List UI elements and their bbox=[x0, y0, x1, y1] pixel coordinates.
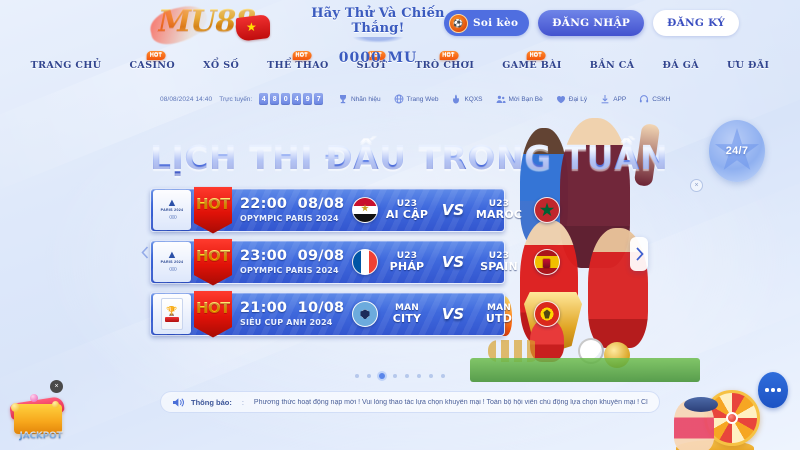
quick-link-5[interactable]: Đại Lý bbox=[556, 94, 587, 104]
match-schedule-list: ▲PARIS 2024○○○HOT22:00 08/08OPYMPIC PARI… bbox=[150, 188, 505, 344]
site-header: MU88 ★ Hãy Thử Và Chiến Thắng! 0000.MU ⚽… bbox=[0, 0, 800, 48]
hot-badge: HOT bbox=[527, 51, 546, 60]
soi-keo-label: Soi kèo bbox=[473, 17, 518, 29]
hot-ribbon: HOT bbox=[194, 291, 232, 338]
coin-icon bbox=[52, 401, 59, 408]
match-time: 22:00 bbox=[240, 196, 287, 212]
nav-item-label: CASINO bbox=[129, 60, 175, 71]
support-247-badge[interactable]: 24/7 bbox=[709, 120, 765, 182]
heart-shield-icon bbox=[556, 94, 566, 104]
hot-ribbon-label: HOT bbox=[196, 247, 230, 265]
hero-banner: LỊCH THI ĐẤU TRONG TUẦN ▲PARIS 2024○○○HO… bbox=[0, 110, 800, 385]
header-slogan: Hãy Thử Và Chiến Thắng! 0000.MU bbox=[288, 6, 468, 66]
match-row[interactable]: ▲PARIS 2024○○○HOT22:00 08/08OPYMPIC PARI… bbox=[150, 188, 505, 232]
carousel-prev-button[interactable] bbox=[138, 237, 152, 267]
online-count-digits: 480497 bbox=[259, 93, 323, 105]
trophy-icon bbox=[338, 94, 348, 104]
quick-link-7[interactable]: CSKH bbox=[639, 94, 670, 104]
nav-item-label: ƯU ĐÃI bbox=[727, 60, 769, 71]
nav-item-label: TRANG CHỦ bbox=[31, 60, 102, 71]
versus-label: VS bbox=[436, 253, 470, 271]
nav-item-10[interactable]: ƯU ĐÃI bbox=[713, 60, 783, 71]
headset-icon bbox=[639, 94, 649, 104]
quick-link-4[interactable]: Mời Bạn Bè bbox=[496, 94, 543, 104]
people-icon bbox=[496, 94, 506, 104]
france-flag-icon bbox=[352, 249, 378, 275]
quick-link-label: Mời Bạn Bè bbox=[509, 96, 543, 103]
match-date: 10/08 bbox=[298, 300, 345, 316]
status-bar: 08/08/2024 14:40 Trực tuyến: 480497 Nhãn… bbox=[0, 88, 800, 110]
three-dots-icon bbox=[765, 388, 769, 392]
carousel-dot[interactable] bbox=[367, 374, 371, 378]
quick-link-label: KQXS bbox=[464, 96, 482, 103]
match-row[interactable]: ▲PARIS 2024○○○HOT23:00 09/08OPYMPIC PARI… bbox=[150, 240, 505, 284]
away-team-line2: SPAIN bbox=[480, 260, 518, 273]
away-team-line2: MAROC bbox=[476, 208, 522, 221]
three-dots-icon bbox=[777, 388, 781, 392]
gift-box-icon bbox=[14, 404, 62, 434]
online-digit: 7 bbox=[314, 93, 323, 105]
carousel-dot[interactable] bbox=[441, 374, 445, 378]
match-schedule-info: 21:00 10/08SIÊU CUP ANH 2024 bbox=[240, 301, 352, 327]
soccer-ball-gold bbox=[604, 342, 630, 368]
hot-ribbon-label: HOT bbox=[196, 299, 230, 317]
match-league: OPYMPIC PARIS 2024 bbox=[240, 214, 339, 223]
soi-keo-button[interactable]: ⚽ Soi kèo bbox=[444, 10, 529, 36]
hot-badge: HOT bbox=[147, 51, 166, 60]
speaker-icon bbox=[172, 396, 185, 409]
home-team-line2: AI CẬP bbox=[386, 208, 428, 221]
nav-item-label: ĐÁ GÀ bbox=[663, 60, 699, 71]
notification-bar: Thông báo: : Phương thức hoạt động nạp m… bbox=[160, 391, 660, 413]
community-shield-icon: 🏆 bbox=[153, 294, 191, 334]
online-digit: 4 bbox=[292, 93, 301, 105]
more-options-button[interactable] bbox=[758, 372, 788, 408]
login-button[interactable]: ĐĂNG NHẬP bbox=[538, 10, 644, 36]
versus-label: VS bbox=[436, 305, 470, 323]
notification-message: Phương thức hoạt động nạp mới ! Vui lòng… bbox=[254, 399, 648, 406]
slogan-ornament bbox=[352, 37, 404, 43]
carousel-next-button[interactable] bbox=[630, 237, 648, 271]
slogan-line-1: Hãy Thử Và Chiến Thắng! bbox=[288, 6, 468, 36]
nav-item-label: XỔ SỐ bbox=[203, 60, 239, 71]
home-team-name: MANCITY bbox=[378, 304, 436, 325]
nav-item-8[interactable]: BẮN CÁ bbox=[576, 60, 649, 71]
online-digit: 9 bbox=[303, 93, 312, 105]
hot-ribbon: HOT bbox=[194, 239, 232, 286]
quick-link-label: APP bbox=[613, 96, 626, 103]
close-247-badge-button[interactable]: × bbox=[690, 179, 703, 192]
three-dots-icon bbox=[771, 388, 775, 392]
current-timestamp: 08/08/2024 14:40 bbox=[160, 96, 212, 103]
page-title: LỊCH THI ĐẤU TRONG TUẦN bbox=[150, 138, 668, 177]
pitch-grass bbox=[470, 358, 700, 382]
online-digit: 0 bbox=[281, 93, 290, 105]
egypt-flag-icon bbox=[352, 197, 378, 223]
download-icon bbox=[600, 94, 610, 104]
match-league: OPYMPIC PARIS 2024 bbox=[240, 266, 339, 275]
match-schedule-info: 22:00 08/08OPYMPIC PARIS 2024 bbox=[240, 197, 352, 223]
morocco-flag-icon bbox=[534, 197, 560, 223]
quick-link-2[interactable]: Trang Web bbox=[394, 94, 439, 104]
match-date: 09/08 bbox=[298, 248, 345, 264]
jackpot-promo[interactable]: × JACKPOT bbox=[8, 384, 74, 446]
away-team-name: MANUTD bbox=[470, 304, 528, 325]
away-team-name: U23SPAIN bbox=[470, 252, 528, 273]
home-team-line2: PHÁP bbox=[390, 260, 425, 273]
register-button[interactable]: ĐĂNG KÝ bbox=[653, 10, 739, 36]
nav-item-2[interactable]: CASINOHOT bbox=[115, 60, 189, 71]
versus-label: VS bbox=[436, 201, 470, 219]
nav-item-label: BẮN CÁ bbox=[590, 60, 635, 71]
match-date: 08/08 bbox=[298, 196, 345, 212]
fire-icon bbox=[451, 94, 461, 104]
quick-link-label: CSKH bbox=[652, 96, 670, 103]
soccer-ball-white bbox=[578, 338, 604, 364]
home-team-name: U23PHÁP bbox=[378, 252, 436, 273]
globe-icon bbox=[394, 94, 404, 104]
away-team-name: U23MAROC bbox=[470, 200, 528, 221]
man-utd-flag-icon bbox=[534, 301, 560, 327]
nav-item-3[interactable]: XỔ SỐ bbox=[189, 60, 253, 71]
man-city-flag-icon bbox=[352, 301, 378, 327]
jackpot-label: JACKPOT bbox=[8, 431, 74, 441]
nav-item-7[interactable]: GAME BÀIHOT bbox=[488, 60, 576, 71]
site-logo[interactable]: MU88 ★ bbox=[158, 2, 278, 48]
carousel-dot[interactable] bbox=[405, 374, 409, 378]
confetti-icon bbox=[30, 394, 38, 402]
carousel-dot[interactable] bbox=[417, 374, 421, 378]
quick-link-6[interactable]: APP bbox=[600, 94, 626, 104]
hot-ribbon: HOT bbox=[194, 187, 232, 234]
match-schedule-info: 23:00 09/08OPYMPIC PARIS 2024 bbox=[240, 249, 352, 275]
header-actions: ⚽ Soi kèo ĐĂNG NHẬP ĐĂNG KÝ bbox=[444, 10, 739, 36]
quick-link-label: Trang Web bbox=[407, 96, 439, 103]
match-row[interactable]: 🏆HOT21:00 10/08SIÊU CUP ANH 2024MANCITYV… bbox=[150, 292, 505, 336]
carousel-pagination bbox=[355, 374, 445, 379]
coin-icon bbox=[11, 403, 20, 412]
carousel-dot[interactable] bbox=[355, 374, 359, 378]
quick-link-label: Đại Lý bbox=[569, 96, 587, 103]
online-digit: 4 bbox=[259, 93, 268, 105]
match-league: SIÊU CUP ANH 2024 bbox=[240, 318, 333, 327]
match-time: 21:00 bbox=[240, 300, 287, 316]
away-team-line2: UTD bbox=[486, 312, 512, 325]
vietnam-flag-icon: ★ bbox=[236, 16, 270, 40]
nav-item-9[interactable]: ĐÁ GÀ bbox=[649, 60, 713, 71]
quick-links: Nhãn hiệuTrang WebKQXSMời Bạn BèĐại LýAP… bbox=[338, 94, 670, 104]
quick-link-3[interactable]: KQXS bbox=[451, 94, 482, 104]
notification-separator: : bbox=[238, 398, 248, 407]
hot-ribbon-label: HOT bbox=[196, 195, 230, 213]
online-count-label: Trực tuyến: bbox=[219, 96, 252, 103]
online-digit: 8 bbox=[270, 93, 279, 105]
quick-link-label: Nhãn hiệu bbox=[351, 96, 381, 103]
match-time: 23:00 bbox=[240, 248, 287, 264]
carousel-dot[interactable] bbox=[379, 373, 385, 379]
olympic-logo-icon: ▲PARIS 2024○○○ bbox=[153, 242, 191, 282]
status-bar-left: 08/08/2024 14:40 Trực tuyến: 480497 bbox=[160, 93, 323, 105]
slogan-line-2: 0000.MU bbox=[288, 50, 468, 66]
notification-label: Thông báo: bbox=[191, 398, 232, 407]
carousel-dot[interactable] bbox=[393, 374, 397, 378]
lucky-wheel-decoration bbox=[672, 380, 764, 450]
quick-link-1[interactable]: Nhãn hiệu bbox=[338, 94, 381, 104]
carousel-dot[interactable] bbox=[429, 374, 433, 378]
spain-flag-icon bbox=[534, 249, 560, 275]
close-jackpot-button[interactable]: × bbox=[50, 380, 63, 393]
whistle-icon: ⚽ bbox=[449, 14, 468, 33]
home-team-line2: CITY bbox=[393, 312, 421, 325]
support-247-label: 24/7 bbox=[726, 145, 749, 157]
nav-item-label: GAME BÀI bbox=[502, 60, 562, 71]
olympic-logo-icon: ▲PARIS 2024○○○ bbox=[153, 190, 191, 230]
nav-item-1[interactable]: TRANG CHỦ bbox=[17, 60, 116, 71]
home-team-name: U23AI CẬP bbox=[378, 200, 436, 221]
